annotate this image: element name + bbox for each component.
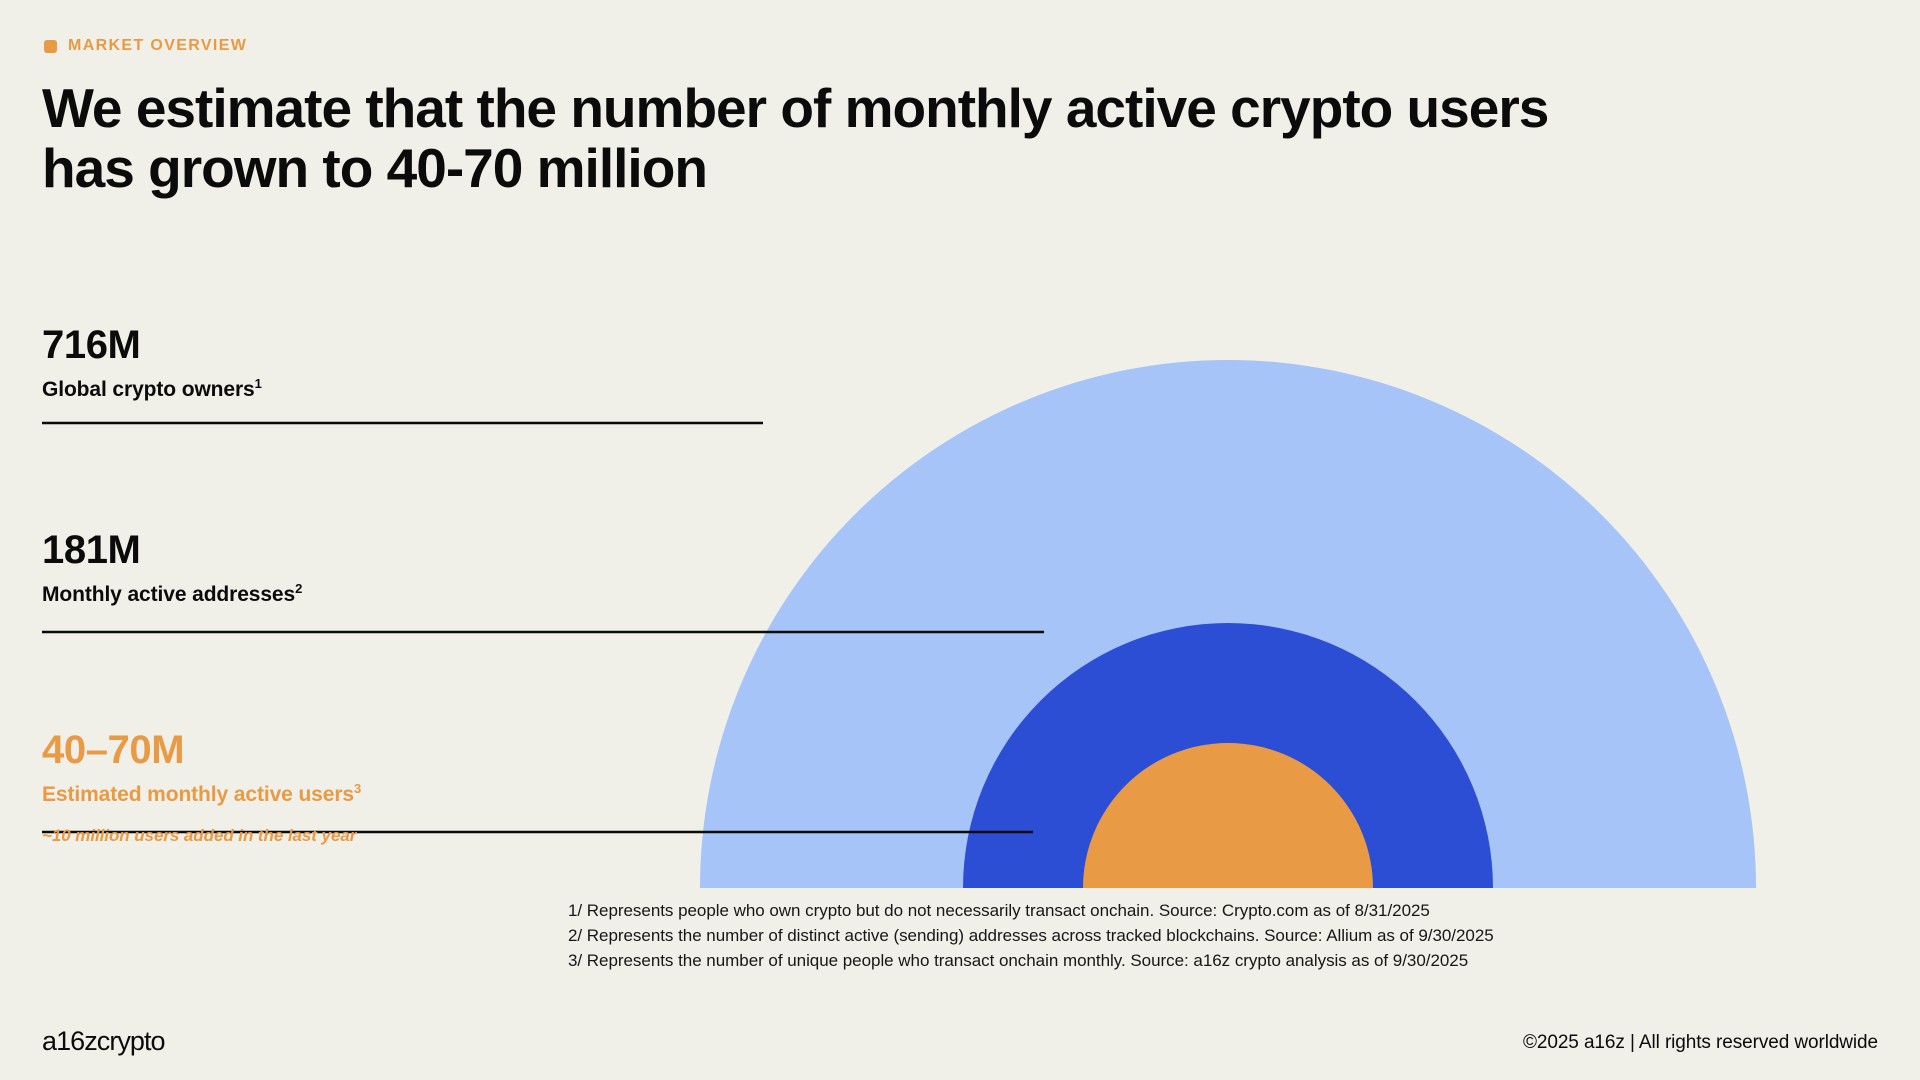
stat-monthly-active-addresses: 181M Monthly active addresses2 <box>42 530 302 606</box>
footnote-2: 2/ Represents the number of distinct act… <box>568 923 1494 948</box>
headline-line-1: We estimate that the number of monthly a… <box>42 78 1682 138</box>
stat-value: 181M <box>42 530 302 570</box>
stat-label: Global crypto owners1 <box>42 378 262 401</box>
stat-label-text: Global crypto owners <box>42 378 255 401</box>
circle-estimated-monthly-active-users <box>1083 743 1373 1033</box>
a16zcrypto-logo: a16zcrypto <box>42 1028 165 1055</box>
eyebrow-label: MARKET OVERVIEW <box>68 38 247 54</box>
stat-value: 716M <box>42 325 262 365</box>
stat-label: Monthly active addresses2 <box>42 583 302 606</box>
square-bullet-icon <box>44 40 57 53</box>
stat-note: ~10 million users added in the last year <box>42 826 361 846</box>
stat-label-text: Estimated monthly active users <box>42 783 354 806</box>
footnote-1: 1/ Represents people who own crypto but … <box>568 898 1494 923</box>
stat-value: 40–70M <box>42 730 361 770</box>
footnote-3: 3/ Represents the number of unique peopl… <box>568 948 1494 973</box>
stat-global-crypto-owners: 716M Global crypto owners1 <box>42 325 262 401</box>
eyebrow: MARKET OVERVIEW <box>44 38 247 54</box>
headline-highlight: grown to 40-70 million <box>144 138 711 198</box>
stat-footnote-ref: 2 <box>295 581 302 596</box>
stat-label: Estimated monthly active users3 <box>42 783 361 806</box>
slide-canvas: MARKET OVERVIEW We estimate that the num… <box>0 0 1920 1080</box>
footnotes: 1/ Represents people who own crypto but … <box>568 898 1494 973</box>
copyright-notice: ©2025 a16z | All rights reserved worldwi… <box>1523 1033 1878 1052</box>
page-title: We estimate that the number of monthly a… <box>42 78 1682 198</box>
headline-line-2-prefix: has <box>42 137 148 199</box>
stat-footnote-ref: 1 <box>255 376 262 391</box>
circle-monthly-active-addresses <box>963 623 1493 1080</box>
stat-estimated-monthly-active-users: 40–70M Estimated monthly active users3 ~… <box>42 730 361 846</box>
stat-label-text: Monthly active addresses <box>42 583 295 606</box>
stat-footnote-ref: 3 <box>354 781 361 796</box>
headline-line-2: has grown to 40-70 million <box>42 138 1682 198</box>
